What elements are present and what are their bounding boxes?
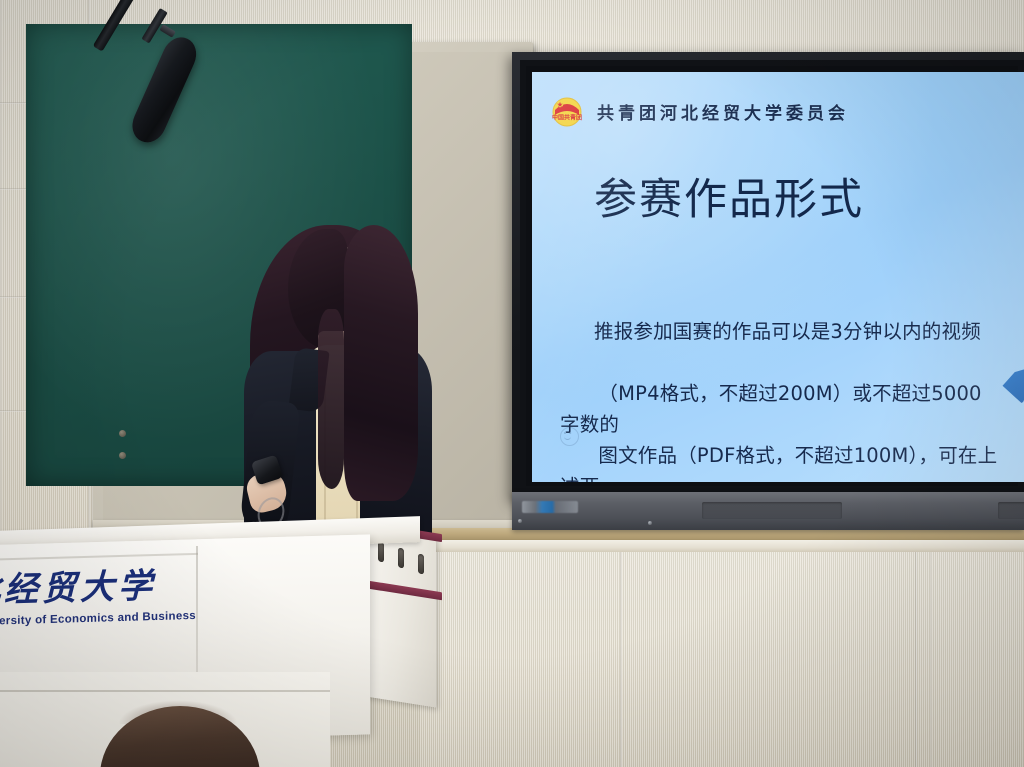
university-logo-chinese: 北经贸大学 [0, 569, 206, 610]
bezel-screw [648, 521, 652, 525]
display-speaker-grille [998, 502, 1024, 519]
display-speaker-grille [702, 502, 842, 519]
slide-body-line: 推报参加国赛的作品可以是3分钟以内的视频 [560, 316, 1000, 347]
lectern-vent-slot [378, 542, 384, 563]
wall-seam-vertical [915, 552, 917, 767]
presentation-screen[interactable]: 中国共青团 共青团河北经贸大学委员会 参赛作品形式 推报参加国赛的作品可以是3分… [532, 72, 1024, 482]
presenter-hair-front-right [344, 225, 418, 501]
lectern-vent-slot [398, 548, 404, 569]
lecture-hall-scene: 中国共青团 共青团河北经贸大学委员会 参赛作品形式 推报参加国赛的作品可以是3分… [0, 0, 1024, 767]
smiley-face-icon [560, 427, 579, 446]
communist-youth-league-emblem: 中国共青团 [550, 94, 584, 128]
slide-body-line: （MP4格式，不超过200M）或不超过5000字数的 [560, 382, 982, 436]
wall-lower-panels [420, 552, 1024, 767]
presenter-hair-strand [318, 309, 344, 489]
slide-body-text: 推报参加国赛的作品可以是3分钟以内的视频 （MP4格式，不超过200M）或不超过… [560, 254, 1000, 482]
wall-seam-vertical [620, 552, 622, 767]
slide-header: 中国共青团 共青团河北经贸大学委员会 [550, 94, 849, 128]
blackboard-hinge [119, 430, 126, 437]
cabinet-seam [0, 690, 330, 692]
female-presenter [232, 215, 438, 545]
display-bottom-bezel [512, 492, 1024, 530]
university-logo: 北经贸大学 i University of Economics and Busi… [0, 569, 206, 629]
display-power-indicator[interactable] [522, 501, 578, 513]
slide-org-header: 共青团河北经贸大学委员会 [597, 99, 849, 124]
slide-body-line: 图文作品（PDF格式，不超过100M），可在上述两 [560, 444, 997, 482]
bezel-screw [518, 519, 522, 523]
lectern-vent-slot [418, 554, 424, 575]
svg-text:中国共青团: 中国共青团 [552, 114, 582, 122]
blackboard-hinge [119, 452, 126, 459]
slide-title: 参赛作品形式 [594, 165, 864, 227]
wall-seam-vertical [930, 552, 932, 767]
